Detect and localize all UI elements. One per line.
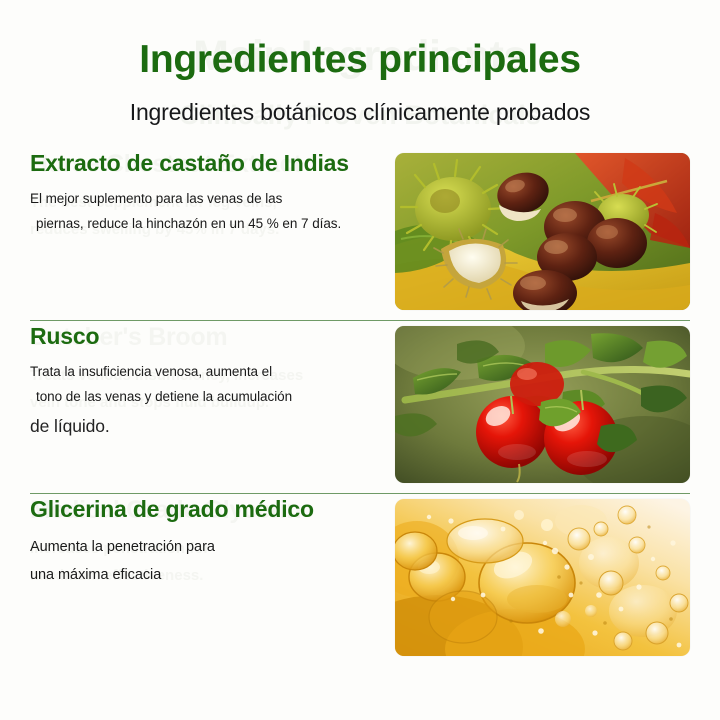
ingredient-section-butchers-broom: Butcher's Broom Treats venous insufficie… [0,321,720,493]
description-line-3: de líquido. [30,416,110,436]
ingredient-description: El mejor suplemento para las venas de la… [30,187,382,237]
ingredient-text-block: Medical Grade Glycerin Increases penetra… [30,494,390,589]
ingredient-text-block: Butcher's Broom Treats venous insufficie… [30,321,390,442]
ingredient-heading: Glicerina de grado médico [30,494,382,526]
ingredients-list: Horse Chestnut Extract The best suppleme… [0,148,720,666]
page-title: Ingredientes principales [0,38,720,83]
page-subtitle: Ingredientes botánicos clínicamente prob… [0,99,720,126]
description-line-2: una máxima eficacia [30,567,161,583]
glycerin-oil-photo [395,499,690,656]
ingredient-description: Aumenta la penetración para una máxima e… [30,533,382,590]
ingredients-page: Main Ingredients Clinically Proven Botan… [0,0,720,720]
description-line-2: piernas, reduce la hinchazón en un 45 % … [30,212,341,237]
ingredient-heading: Extracto de castaño de Indias [30,148,382,180]
description-line-1: El mejor suplemento para las venas de la… [30,191,282,206]
description-line-1: Aumenta la penetración para [30,539,215,555]
butchers-broom-photo [395,326,690,483]
ingredient-heading: Rusco [30,321,382,353]
ingredient-text-block: Horse Chestnut Extract The best suppleme… [30,148,390,237]
ingredient-section-glycerin: Medical Grade Glycerin Increases penetra… [0,494,720,666]
horse-chestnut-photo [395,153,690,310]
description-line-1: Trata la insuficiencia venosa, aumenta e… [30,364,272,379]
page-header: Main Ingredients Clinically Proven Botan… [0,0,720,126]
description-line-2: tono de las venas y detiene la acumulaci… [30,385,292,410]
ingredient-section-horse-chestnut: Horse Chestnut Extract The best suppleme… [0,148,720,320]
ingredient-description: Trata la insuficiencia venosa, aumenta e… [30,360,382,442]
